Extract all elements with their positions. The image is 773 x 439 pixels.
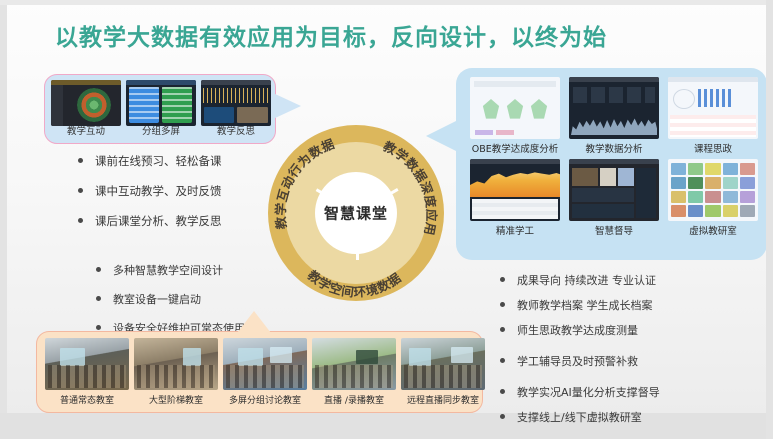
thumbnail-smart-supervision[interactable] xyxy=(569,159,659,221)
chat-panel-left xyxy=(129,87,159,123)
photo-caption: 直播 /录播教室 xyxy=(312,393,396,406)
thumbnail-caption: 精准学工 xyxy=(470,223,560,237)
right-cell[interactable]: 教学数据分析 xyxy=(569,77,659,155)
bullet-dot-icon xyxy=(96,325,101,330)
classroom-photo-strip: 普通常态教室 大型阶梯教室 多屏分组讨论教室 直播 /录播教室 xyxy=(45,338,485,406)
list-item-label: 教学实况AI量化分析支撑督导 xyxy=(517,384,660,400)
scatter-chart xyxy=(572,204,634,218)
thumbnail-caption: 课程思政 xyxy=(668,141,758,155)
bullet-dot-icon xyxy=(500,389,505,394)
list-item: 学工辅导员及时预警补救 xyxy=(500,353,660,369)
chat-panel-right xyxy=(162,87,192,123)
thumbnail-caption: 教学反思 xyxy=(201,123,271,137)
waveform-graphic xyxy=(203,88,269,103)
bullet-dot-icon xyxy=(96,296,101,301)
bullet-dot-icon xyxy=(96,267,101,272)
donut-segment-label-1: 教学互动行为数据 xyxy=(273,136,337,231)
slide-top-edge xyxy=(0,0,773,5)
page-title: 以教学大数据有效应用为目标，反向设计，以终为始 xyxy=(55,18,607,52)
list-item: 支撑线上/线下虚拟教研室 xyxy=(500,409,660,425)
trend-chart xyxy=(572,188,634,202)
thumb-titlebar xyxy=(470,159,560,164)
thumbnail-teaching-interaction[interactable] xyxy=(51,80,121,126)
list-item-label: 教师教学档案 学生成长档案 xyxy=(517,297,653,313)
classroom-cell[interactable]: 直播 /录播教室 xyxy=(312,338,396,406)
list-item-label: 教室设备一键启动 xyxy=(113,291,201,307)
list-item: 教师教学档案 学生成长档案 xyxy=(500,297,660,313)
bullet-dot-icon xyxy=(500,358,505,363)
list-item-label: 课前在线预习、轻松备课 xyxy=(95,153,222,169)
toolbar-strip xyxy=(474,81,556,87)
video-tile-a xyxy=(204,107,234,123)
thumbnail-caption: 教学互动 xyxy=(51,123,121,137)
thumbnail-precision-student-work[interactable] xyxy=(470,159,560,221)
right-cell[interactable]: 课程思政 xyxy=(668,77,758,155)
heatmap-area xyxy=(470,167,560,197)
video-tile-a xyxy=(572,168,598,186)
left-callout-panel: 教学互动 分组多屏 教学反思 xyxy=(44,74,276,144)
donut-diagram: 智慧课堂 教学互动行为数据 教学数据深度应用 教学空间环境数据 xyxy=(268,125,444,301)
thumbnail-caption: 分组多屏 xyxy=(126,123,196,137)
donut-chart xyxy=(673,89,695,109)
right-cell[interactable]: 精准学工 xyxy=(470,159,560,237)
list-item: 课后课堂分析、教学反思 xyxy=(78,213,222,229)
thumbnail-virtual-research-room[interactable] xyxy=(668,159,758,221)
photo-live-recording-room[interactable] xyxy=(312,338,396,390)
tile-grid xyxy=(671,163,755,217)
bullet-dot-icon xyxy=(500,414,505,419)
list-item: 课中互动教学、及时反馈 xyxy=(78,183,222,199)
classroom-cell[interactable]: 远程直播同步教室 xyxy=(401,338,485,406)
radar-chart-a xyxy=(482,99,500,119)
photo-multiscreen-discussion-room[interactable] xyxy=(223,338,307,390)
photo-caption: 大型阶梯教室 xyxy=(134,393,218,406)
video-tile-b xyxy=(600,168,616,186)
photo-lecture-hall[interactable] xyxy=(134,338,218,390)
list-item: 成果导向 持续改进 专业认证 xyxy=(500,272,660,288)
side-info-panel xyxy=(636,168,656,218)
list-item: 师生思政教学达成度测量 xyxy=(500,322,660,338)
thumbnail-caption: OBE教学达成度分析 xyxy=(470,141,560,155)
video-tile-b xyxy=(237,107,268,123)
donut-segment-label-2: 教学数据深度应用 xyxy=(380,138,439,237)
wordcloud-graphic xyxy=(77,88,111,122)
thumbnail-teaching-reflection[interactable] xyxy=(201,80,271,126)
legend-chip-a xyxy=(475,130,493,135)
data-table xyxy=(472,199,558,219)
legend-chip-b xyxy=(496,130,514,135)
left-callout-tail xyxy=(273,93,301,119)
thumb-titlebar xyxy=(569,159,659,164)
thumb-titlebar xyxy=(201,80,271,85)
area-chart xyxy=(571,113,657,135)
right-thumbnail-row: 精准学工 智慧督导 xyxy=(470,159,758,237)
list-item-label: 多种智慧教学空间设计 xyxy=(113,262,223,278)
thumbnail-course-ideology[interactable] xyxy=(668,77,758,139)
right-cell[interactable]: OBE教学达成度分析 xyxy=(470,77,560,155)
photo-caption: 多屏分组讨论教室 xyxy=(223,393,307,406)
right-thumbnail-grid: OBE教学达成度分析 教学数据分析 xyxy=(470,77,758,237)
radar-chart-c xyxy=(530,99,548,119)
classroom-cell[interactable]: 多屏分组讨论教室 xyxy=(223,338,307,406)
thumbnail-group-multiscreen[interactable] xyxy=(126,80,196,126)
kpi-cards xyxy=(573,87,655,103)
thumb-titlebar xyxy=(126,80,196,85)
thumbnail-caption: 虚拟教研室 xyxy=(668,223,758,237)
classroom-cell[interactable]: 大型阶梯教室 xyxy=(134,338,218,406)
thumbnail-caption: 教学数据分析 xyxy=(569,141,659,155)
list-item-label: 学工辅导员及时预警补救 xyxy=(517,353,638,369)
data-table xyxy=(670,115,756,137)
list-item: 课前在线预习、轻松备课 xyxy=(78,153,222,169)
radar-chart-b xyxy=(506,99,524,119)
classroom-cell[interactable]: 普通常态教室 xyxy=(45,338,129,406)
right-thumbnail-row: OBE教学达成度分析 教学数据分析 xyxy=(470,77,758,155)
bullet-dot-icon xyxy=(500,302,505,307)
video-tile-c xyxy=(618,168,634,186)
list-item: 教室设备一键启动 xyxy=(96,291,245,307)
donut-segment-label-3: 教学空间环境数据 xyxy=(304,267,404,300)
list-item: 教学实况AI量化分析支撑督导 xyxy=(500,384,660,400)
bullet-dot-icon xyxy=(500,277,505,282)
thumb-titlebar xyxy=(668,77,758,82)
right-callout-panel: OBE教学达成度分析 教学数据分析 xyxy=(456,68,767,260)
bullet-dot-icon xyxy=(78,188,83,193)
thumb-titlebar xyxy=(569,77,659,82)
left-thumbnail-strip xyxy=(51,80,271,126)
bullet-dot-icon xyxy=(78,158,83,163)
right-cell[interactable]: 虚拟教研室 xyxy=(668,159,758,237)
right-cell[interactable]: 智慧督导 xyxy=(569,159,659,237)
right-bullet-list: 成果导向 持续改进 专业认证 教师教学档案 学生成长档案 师生思政教学达成度测量… xyxy=(500,272,660,434)
bullet-dot-icon xyxy=(78,218,83,223)
thumbnail-caption: 智慧督导 xyxy=(569,223,659,237)
photo-caption: 远程直播同步教室 xyxy=(401,393,485,406)
list-item-label: 支撑线上/线下虚拟教研室 xyxy=(517,409,642,425)
photo-normal-classroom[interactable] xyxy=(45,338,129,390)
list-item-label: 课中互动教学、及时反馈 xyxy=(95,183,222,199)
list-item: 多种智慧教学空间设计 xyxy=(96,262,245,278)
list-item-label: 课后课堂分析、教学反思 xyxy=(95,213,222,229)
thumb-sidebar xyxy=(51,85,63,126)
photo-caption: 普通常态教室 xyxy=(45,393,129,406)
thumbnail-teaching-data-analysis[interactable] xyxy=(569,77,659,139)
bullet-dot-icon xyxy=(500,327,505,332)
left-bullet-list: 课前在线预习、轻松备课 课中互动教学、及时反馈 课后课堂分析、教学反思 xyxy=(78,153,222,243)
slide-canvas: 以教学大数据有效应用为目标，反向设计，以终为始 教学互动 分组多屏 xyxy=(0,0,773,439)
bottom-callout-panel: 普通常态教室 大型阶梯教室 多屏分组讨论教室 直播 /录播教室 xyxy=(36,331,483,413)
list-item-label: 成果导向 持续改进 专业认证 xyxy=(517,272,656,288)
list-item-label: 师生思政教学达成度测量 xyxy=(517,322,638,338)
bar-chart xyxy=(698,89,732,107)
bottom-callout-tail xyxy=(237,311,271,333)
donut-arc-labels: 教学互动行为数据 教学数据深度应用 教学空间环境数据 xyxy=(268,125,444,301)
thumbnail-obe-analysis[interactable] xyxy=(470,77,560,139)
photo-remote-live-sync-room[interactable] xyxy=(401,338,485,390)
